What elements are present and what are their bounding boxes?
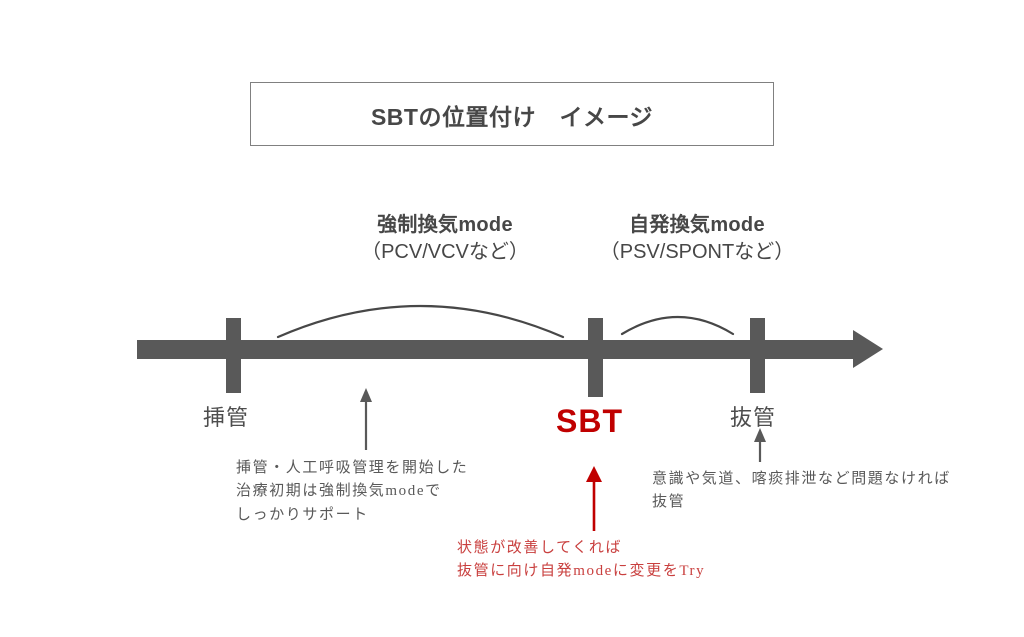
annotation-intubation-note: 挿管・人工呼吸管理を開始した 治療初期は強制換気modeで しっかりサポート: [236, 457, 468, 527]
annotation-sbt-note: 状態が改善してくれば 抜管に向け自発modeに変更をTry: [457, 537, 705, 584]
mode-label-spontaneous-ventilation: 自発換気mode （PSV/SPONTなど）: [568, 212, 826, 266]
callout-arrow-right: [754, 428, 766, 462]
mode-label-spont-line1: 自発換気mode: [568, 212, 826, 239]
slide-canvas: SBTの位置付け イメージ 強制換気mode （PCV/VCVなど） 自発換気m…: [0, 0, 1024, 637]
timeline-tick-extubation: [750, 318, 765, 393]
mode-label-forced-line1: 強制換気mode: [300, 212, 590, 239]
mode-label-spont-line2: （PSV/SPONTなど）: [568, 239, 826, 266]
annotation-extubation-note: 意識や気道、喀痰排泄など問題なければ 抜管: [652, 468, 951, 515]
milestone-label-intubation: 挿管: [203, 400, 249, 432]
milestone-label-extubation: 抜管: [730, 400, 776, 432]
timeline-tick-sbt: [588, 318, 603, 397]
phase-arc-forced-ventilation: [278, 306, 563, 337]
mode-label-forced-ventilation: 強制換気mode （PCV/VCVなど）: [300, 212, 590, 266]
timeline-axis-arrow: [137, 330, 883, 368]
milestone-label-sbt: SBT: [556, 403, 623, 440]
callout-arrow-left: [360, 388, 372, 450]
callout-arrow-sbt-red: [586, 466, 602, 531]
mode-label-forced-line2: （PCV/VCVなど）: [300, 239, 590, 266]
page-title: SBTの位置付け イメージ: [250, 98, 774, 132]
phase-arc-spontaneous-ventilation: [622, 317, 733, 334]
timeline-tick-intubation: [226, 318, 241, 393]
